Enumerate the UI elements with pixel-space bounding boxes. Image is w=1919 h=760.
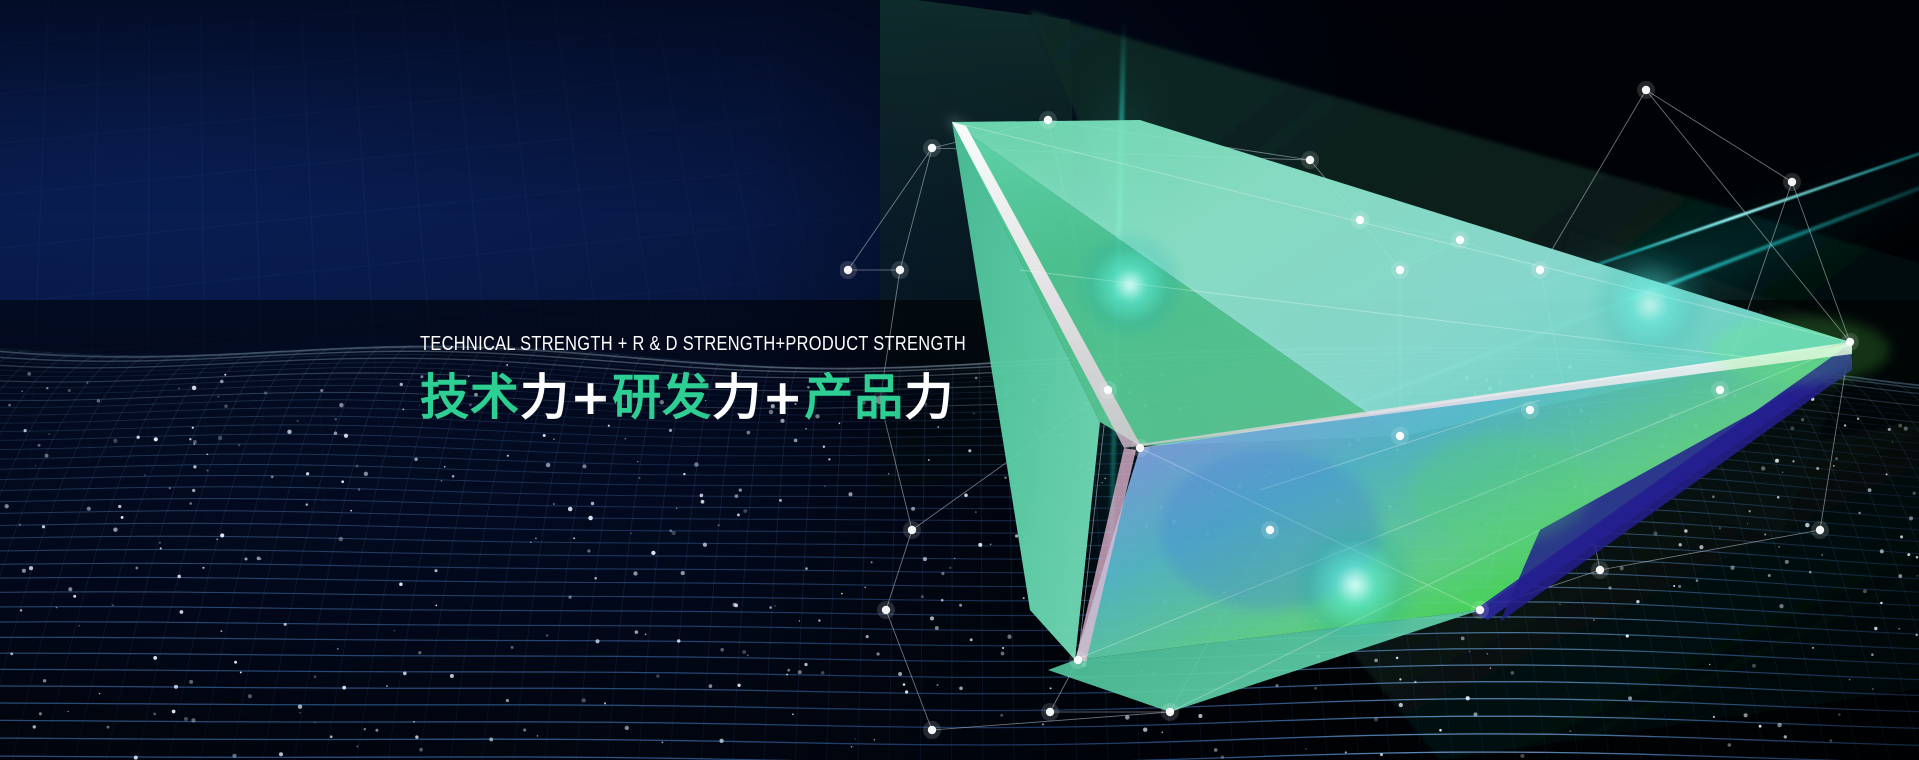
headline-cn-seg1-white: 力 <box>520 369 570 426</box>
headline-block: TECHNICAL STRENGTH + R & D STRENGTH+PROD… <box>420 334 1040 423</box>
headline-english: TECHNICAL STRENGTH + R & D STRENGTH+PROD… <box>420 334 916 355</box>
headline-cn-seg2-white: 力 <box>712 369 762 426</box>
headline-cn-seg3-white: 力 <box>904 369 954 426</box>
headline-chinese: 技术力+研发力+产品力 <box>420 373 1040 424</box>
headline-cn-seg3-green: 产品 <box>804 369 904 426</box>
hero-banner: TECHNICAL STRENGTH + R & D STRENGTH+PROD… <box>0 0 1919 760</box>
headline-cn-seg1-green: 技术 <box>420 369 520 426</box>
headline-cn-plus2: + <box>762 369 804 426</box>
headline-cn-seg2-green: 研发 <box>612 369 712 426</box>
headline-cn-plus1: + <box>570 369 612 426</box>
